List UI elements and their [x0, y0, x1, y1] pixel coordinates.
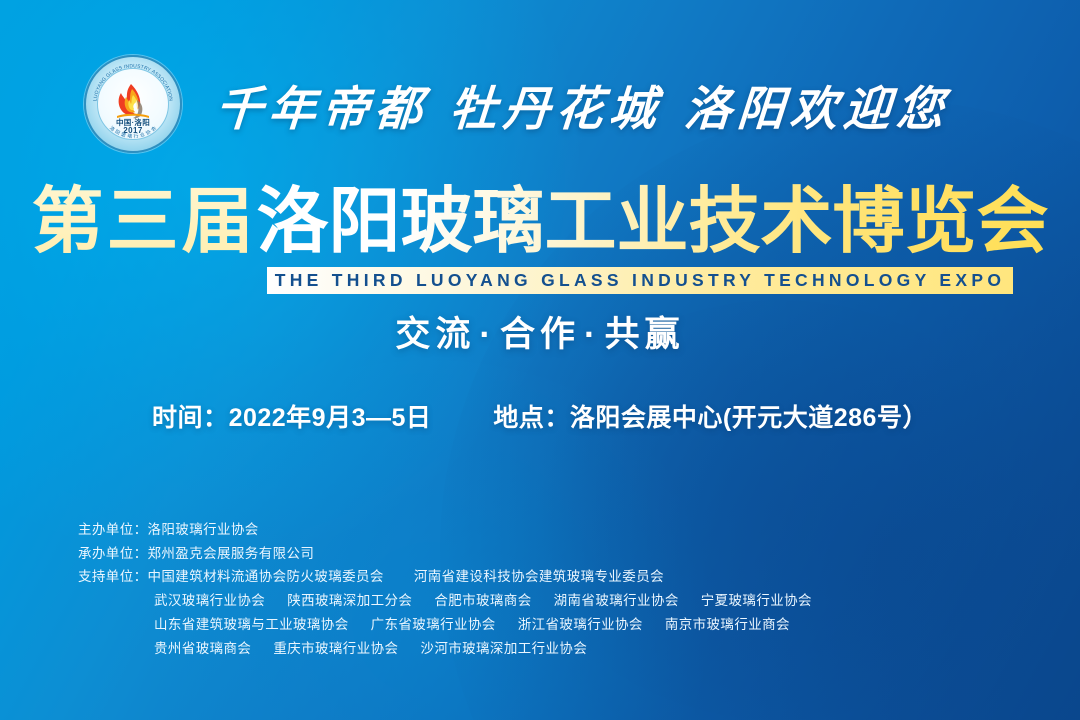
event-venue-value: 洛阳会展中心(开元大道286号）	[570, 404, 928, 432]
event-date-value: 2022年9月3—5日	[229, 404, 432, 432]
english-title: THE THIRD LUOYANG GLASS INDUSTRY TECHNOL…	[267, 267, 1014, 294]
title-name: 洛阳玻璃工业技术博览会	[257, 182, 1049, 262]
support-item: 沙河市玻璃深加工行业协会	[420, 641, 587, 656]
welcome-slogan: 千年帝都 牡丹花城 洛阳欢迎您	[214, 70, 953, 139]
support-line-4: 贵州省玻璃商会重庆市玻璃行业协会沙河市玻璃深加工行业协会	[78, 637, 812, 661]
support-item: 陕西玻璃深加工分会	[287, 593, 412, 608]
tagline-separator-1: ·	[475, 315, 500, 354]
tagline-part-1: 交流	[395, 315, 475, 354]
support-item: 重庆市玻璃行业协会	[273, 641, 398, 656]
support-item: 浙江省玻璃行业协会	[518, 617, 643, 632]
organizer-label: 承办单位：	[78, 546, 148, 561]
support-item: 宁夏玻璃行业协会	[701, 593, 812, 608]
support-line-3: 山东省建筑玻璃与工业玻璃协会广东省玻璃行业协会浙江省玻璃行业协会南京市玻璃行业商…	[78, 613, 812, 637]
host-label: 主办单位：	[78, 522, 148, 537]
header-row: LUOYANG GLASS INDUSTRY ASSOCIATION 洛 阳 玻…	[0, 44, 1080, 164]
association-logo: LUOYANG GLASS INDUSTRY ASSOCIATION 洛 阳 玻…	[84, 55, 182, 153]
support-item: 中国建筑材料流通协会防火玻璃委员会	[148, 569, 384, 584]
host-value: 洛阳玻璃行业协会	[148, 522, 259, 537]
support-item: 河南省建设科技协会建筑玻璃专业委员会	[414, 569, 664, 584]
event-venue-label: 地点：	[493, 404, 570, 432]
support-label: 支持单位：	[78, 569, 148, 584]
tagline-separator-2: ·	[580, 315, 605, 354]
organizations-block: 主办单位：洛阳玻璃行业协会 承办单位：郑州盈克会展服务有限公司 支持单位：中国建…	[78, 518, 812, 660]
english-title-wrap: THE THIRD LUOYANG GLASS INDUSTRY TECHNOL…	[0, 262, 1080, 294]
support-item: 广东省玻璃行业协会	[371, 617, 496, 632]
event-venue: 地点：洛阳会展中心(开元大道286号）	[493, 398, 928, 434]
event-date-label: 时间：	[152, 404, 229, 432]
tagline: 交流·合作·共赢	[0, 306, 1080, 357]
support-item: 湖南省玻璃行业协会	[554, 593, 679, 608]
support-item: 南京市玻璃行业商会	[665, 617, 790, 632]
support-item: 山东省建筑玻璃与工业玻璃协会	[154, 617, 349, 632]
organizer-line: 承办单位：郑州盈克会展服务有限公司	[78, 542, 812, 566]
tagline-part-2: 合作	[500, 315, 580, 354]
support-item: 贵州省玻璃商会	[154, 641, 251, 656]
host-line: 主办单位：洛阳玻璃行业协会	[78, 518, 812, 542]
main-title: 第三届洛阳玻璃工业技术博览会	[31, 186, 1048, 258]
support-item: 合肥市玻璃商会	[434, 593, 531, 608]
support-item: 武汉玻璃行业协会	[154, 593, 265, 608]
logo-year-text: 2017	[84, 126, 182, 135]
event-info-row: 时间：2022年9月3—5日 地点：洛阳会展中心(开元大道286号）	[0, 398, 1080, 434]
flame-icon	[111, 82, 155, 122]
organizer-value: 郑州盈克会展服务有限公司	[148, 546, 315, 561]
support-line-1: 支持单位：中国建筑材料流通协会防火玻璃委员会河南省建设科技协会建筑玻璃专业委员会	[78, 565, 812, 589]
title-ordinal: 第三届	[31, 182, 256, 262]
title-block: 第三届洛阳玻璃工业技术博览会 THE THIRD LUOYANG GLASS I…	[0, 186, 1080, 258]
event-date: 时间：2022年9月3—5日	[152, 398, 431, 434]
expo-poster: LUOYANG GLASS INDUSTRY ASSOCIATION 洛 阳 玻…	[0, 0, 1080, 720]
tagline-part-3: 共赢	[605, 315, 685, 354]
support-line-2: 武汉玻璃行业协会陕西玻璃深加工分会合肥市玻璃商会湖南省玻璃行业协会宁夏玻璃行业协…	[78, 589, 812, 613]
